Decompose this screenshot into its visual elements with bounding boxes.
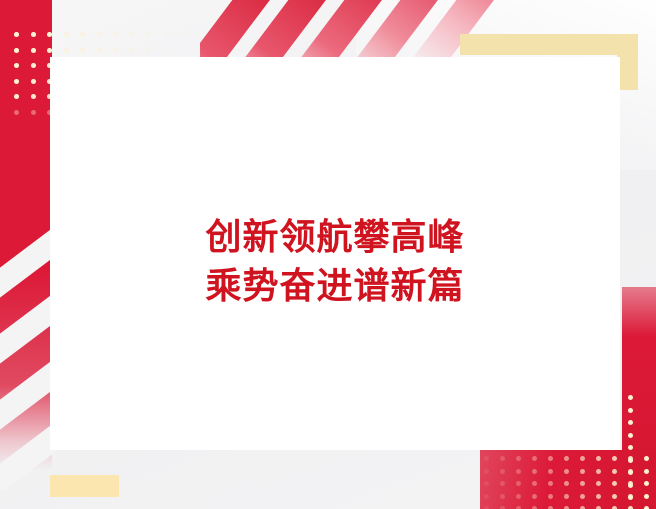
gold-bracket-horizontal [460, 34, 638, 55]
decorative-dot [580, 481, 585, 486]
decorative-dot [516, 456, 521, 461]
decorative-dot [47, 48, 52, 53]
decorative-dot [31, 63, 36, 68]
decorative-dot [179, 48, 184, 53]
decorative-dot [31, 32, 36, 37]
decorative-dot [14, 63, 19, 68]
decorative-dot [516, 469, 521, 474]
decorative-dot [628, 433, 633, 438]
decorative-dot [484, 456, 489, 461]
decorative-dot [628, 483, 633, 488]
decorative-dot [596, 494, 601, 499]
decorative-dot [196, 48, 201, 53]
decorative-dot [31, 79, 36, 84]
decorative-dot [113, 32, 118, 37]
decorative-dot [628, 445, 633, 450]
decorative-dot [516, 494, 521, 499]
decorative-dot [484, 469, 489, 474]
decorative-dot [628, 458, 633, 463]
decorative-dot [130, 32, 135, 37]
decorative-dot [548, 494, 553, 499]
decorative-dot [130, 48, 135, 53]
decorative-dot [146, 48, 151, 53]
decorative-dot [564, 494, 569, 499]
decorative-dot [179, 32, 184, 37]
title-line-1: 创新领航攀高峰 [205, 214, 464, 263]
decorative-dot [596, 469, 601, 474]
decorative-dot [628, 495, 633, 500]
title-block: 创新领航攀高峰 乘势奋进谱新篇 [205, 214, 464, 312]
decorative-dot [500, 456, 505, 461]
decorative-dot [64, 32, 69, 37]
decorative-dot [163, 32, 168, 37]
dot-grid-right-column [628, 395, 648, 507]
decorative-dot [146, 32, 151, 37]
poster-canvas: 创新领航攀高峰 乘势奋进谱新篇 [0, 0, 656, 509]
decorative-dot [516, 481, 521, 486]
decorative-dot [532, 494, 537, 499]
decorative-dot [532, 469, 537, 474]
decorative-dot [548, 481, 553, 486]
decorative-dot [14, 32, 19, 37]
decorative-dot [564, 481, 569, 486]
decorative-dot [532, 456, 537, 461]
decorative-dot [14, 94, 19, 99]
decorative-dot [80, 48, 85, 53]
decorative-dot [628, 470, 633, 475]
decorative-dot [596, 456, 601, 461]
decorative-dot [484, 494, 489, 499]
decorative-dot [596, 481, 601, 486]
decorative-dot [548, 456, 553, 461]
decorative-dot [628, 408, 633, 413]
decorative-dot [580, 494, 585, 499]
gold-bracket-vertical [617, 34, 638, 90]
decorative-dot [548, 469, 553, 474]
decorative-dot [628, 420, 633, 425]
decorative-dot [113, 48, 118, 53]
decorative-dot [14, 79, 19, 84]
decorative-dot [564, 469, 569, 474]
decorative-dot [47, 32, 52, 37]
decorative-dot [80, 32, 85, 37]
decorative-dot [31, 110, 36, 115]
decorative-dot [31, 94, 36, 99]
decorative-dot [163, 48, 168, 53]
decorative-dot [564, 456, 569, 461]
decorative-dot [500, 469, 505, 474]
decorative-dot [31, 48, 36, 53]
decorative-dot [97, 32, 102, 37]
decorative-dot [612, 456, 617, 461]
decorative-dot [500, 494, 505, 499]
decorative-dot [64, 48, 69, 53]
decorative-dot [612, 481, 617, 486]
decorative-dot [196, 32, 201, 37]
decorative-dot [97, 48, 102, 53]
decorative-dot [500, 481, 505, 486]
decorative-dot [612, 494, 617, 499]
content-card: 创新领航攀高峰 乘势奋进谱新篇 [50, 57, 620, 450]
decorative-dot [14, 110, 19, 115]
decorative-dot [612, 469, 617, 474]
decorative-dot [14, 48, 19, 53]
decorative-dot [532, 481, 537, 486]
gold-accent-rectangle [50, 475, 119, 497]
title-line-2: 乘势奋进谱新篇 [205, 263, 464, 312]
decorative-dot [580, 456, 585, 461]
decorative-dot [628, 395, 633, 400]
decorative-dot [484, 481, 489, 486]
decorative-dot [580, 469, 585, 474]
